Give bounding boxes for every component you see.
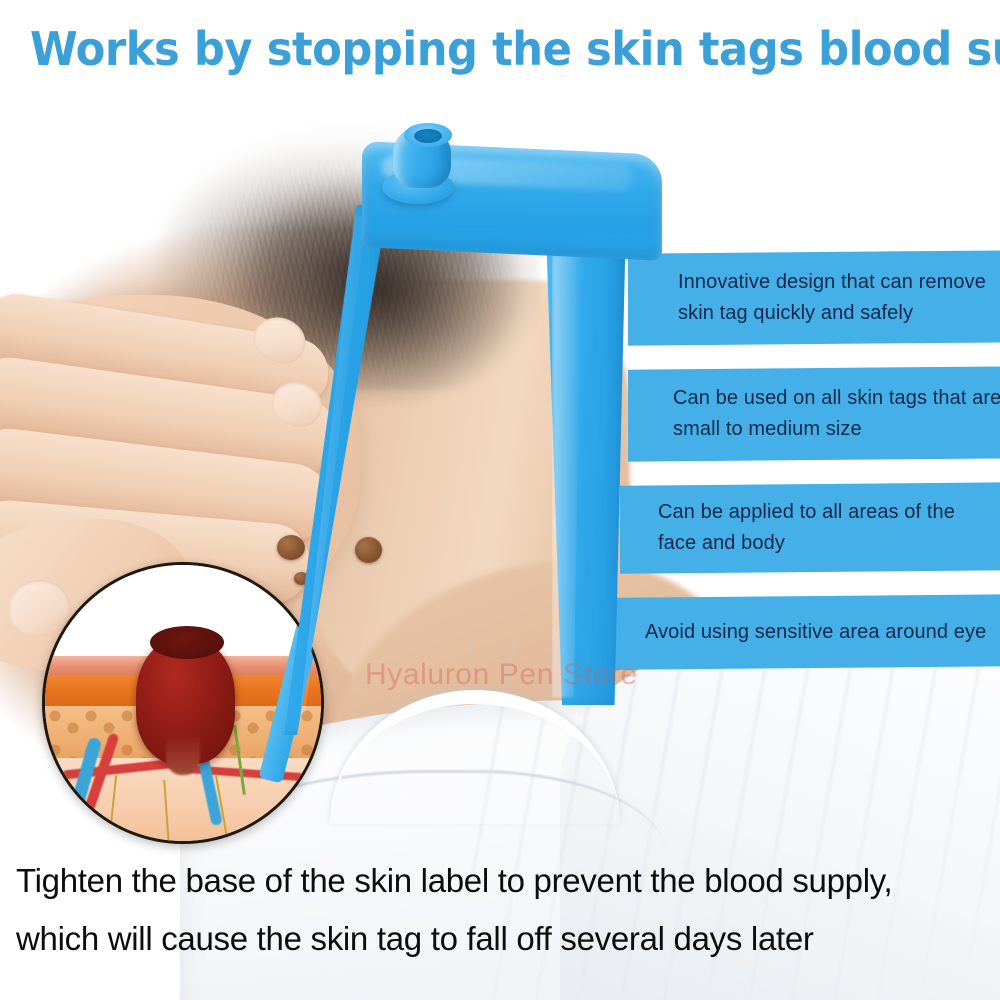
device-nozzle-opening xyxy=(414,129,442,143)
store-watermark: Hyaluron Pen Store xyxy=(365,658,638,692)
caption-line-1: Tighten the base of the skin label to pr… xyxy=(16,862,996,900)
product-marketing-image: Innovative design that can remove skin t… xyxy=(0,0,1000,1000)
headline: Works by stopping the skin tags blood su… xyxy=(30,22,970,76)
device-probe-arm xyxy=(258,205,388,735)
skin-tag-remover-device xyxy=(0,0,1000,1000)
caption-line-2: which will cause the skin tag to fall of… xyxy=(16,920,996,958)
